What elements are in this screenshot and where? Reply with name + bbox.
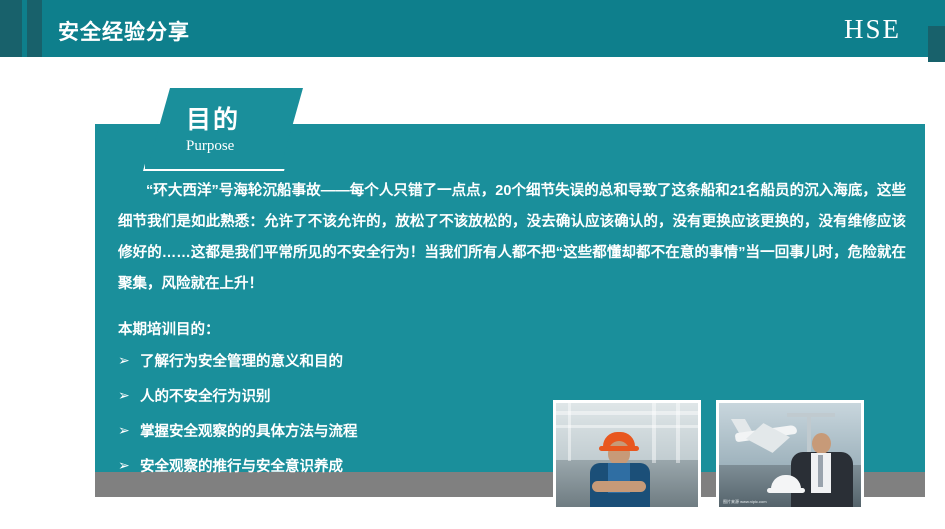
list-item-label: 掌握安全观察的的具体方法与流程 [140, 420, 358, 441]
column-shape [652, 403, 656, 463]
worker-head-shape [608, 441, 630, 465]
businessman-head-shape [812, 433, 831, 454]
businessman-tie-shape [818, 455, 823, 487]
purpose-ribbon-subtitle: Purpose [186, 138, 234, 155]
worker-in-orange-helmet-photo [553, 400, 701, 510]
header-left-accent-block-2 [27, 0, 42, 57]
chevron-right-icon: ➢ [118, 422, 140, 439]
brand-label: HSE [844, 14, 901, 45]
list-item-label: 人的不安全行为识别 [140, 385, 271, 406]
objectives-subtitle: 本期培训目的： [118, 318, 220, 339]
column-shape [568, 403, 571, 461]
list-item: ➢ 安全观察的推行与安全意识养成 [118, 450, 538, 481]
chevron-right-icon: ➢ [118, 352, 140, 369]
purpose-ribbon-title: 目的 [186, 100, 240, 136]
header-left-accent-block [0, 0, 22, 57]
photo-watermark-caption: 图片来源 www.nipic.com [723, 499, 767, 505]
column-shape [676, 403, 680, 463]
objectives-list: ➢ 了解行为安全管理的意义和目的 ➢ 人的不安全行为识别 ➢ 掌握安全观察的的具… [118, 345, 538, 485]
chevron-right-icon: ➢ [118, 387, 140, 404]
helmet-brim-shape [599, 446, 639, 451]
list-item: ➢ 人的不安全行为识别 [118, 380, 538, 411]
list-item: ➢ 了解行为安全管理的意义和目的 [118, 345, 538, 376]
airplane-and-businessman-photo: 图片来源 www.nipic.com [716, 400, 864, 510]
list-item-label: 安全观察的推行与安全意识养成 [140, 455, 343, 476]
page-title: 安全经验分享 [58, 16, 190, 46]
body-paragraph: “环大西洋”号海轮沉船事故——每个人只错了一点点，20个细节失误的总和导致了这条… [118, 176, 906, 300]
crane-jib-shape [787, 413, 835, 417]
list-item-label: 了解行为安全管理的意义和目的 [140, 350, 343, 371]
slide-header: 安全经验分享 HSE [0, 0, 945, 62]
chevron-right-icon: ➢ [118, 457, 140, 474]
worker-arms-shape [592, 481, 646, 492]
header-right-accent-block [928, 26, 945, 62]
white-helmet-brim-shape [767, 488, 805, 493]
list-item: ➢ 掌握安全观察的的具体方法与流程 [118, 415, 538, 446]
